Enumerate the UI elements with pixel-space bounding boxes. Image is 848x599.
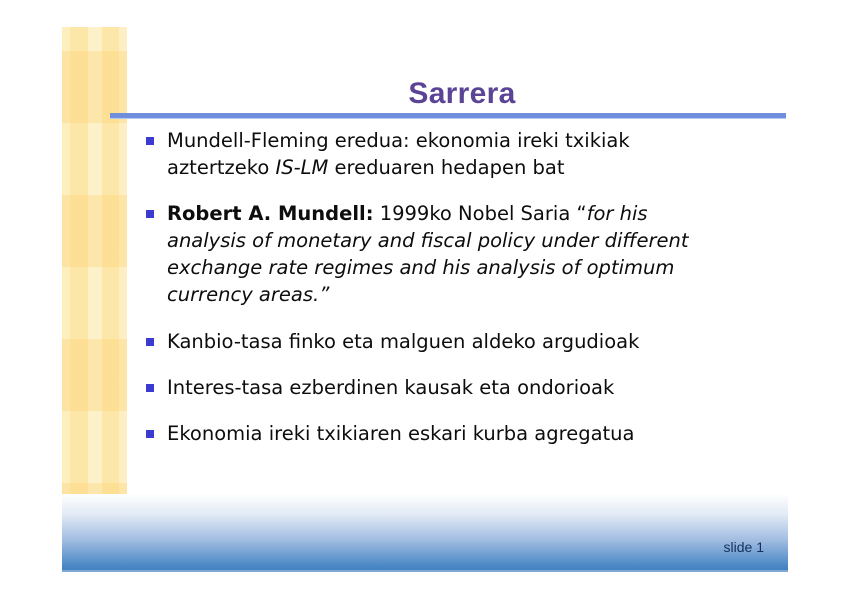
bullet-robert-mundell-text: Robert A. Mundell: 1999ko Nobel Saria “f… [167,200,726,308]
bullet-mundell-fleming-segment-1: IS-LM [275,156,328,179]
bullet-mundell-fleming-segment-2: ereduaren hedapen bat [328,156,564,179]
page-title: Sarrera [132,77,788,111]
decorative-stripe-panel [62,27,127,572]
list-item: Interes-tasa ezberdinen kausak eta ondor… [146,374,726,401]
bullet-square-icon [146,338,154,346]
bullet-robert-mundell-segment-1: 1999ko Nobel Saria “ [374,202,587,225]
title-divider-rule [110,113,786,119]
list-item: Robert A. Mundell: 1999ko Nobel Saria “f… [146,200,726,308]
footer-underline [62,570,788,572]
list-item: Kanbio-tasa finko eta malguen aldeko arg… [146,328,726,355]
bullet-square-icon [146,430,154,438]
bullet-interes-tasa-segment-0: Interes-tasa ezberdinen kausak eta ondor… [167,376,614,399]
list-item: Ekonomia ireki txikiaren eskari kurba ag… [146,420,726,447]
bullet-square-icon [146,210,154,218]
bullet-kanbio-tasa-text: Kanbio-tasa finko eta malguen aldeko arg… [167,328,726,355]
footer-gradient-band: slide 1 [62,494,788,572]
bullet-ekonomia-ireki-segment-0: Ekonomia ireki txikiaren eskari kurba ag… [167,422,635,445]
presentation-slide: Sarrera Mundell-Fleming eredua: ekonomia… [62,27,788,572]
bullet-square-icon [146,137,154,145]
bullet-list: Mundell-Fleming eredua: ekonomia ireki t… [146,127,726,466]
bullet-interes-tasa-text: Interes-tasa ezberdinen kausak eta ondor… [167,374,726,401]
bullet-ekonomia-ireki-text: Ekonomia ireki txikiaren eskari kurba ag… [167,420,726,447]
bullet-square-icon [146,384,154,392]
slide-number-label: slide 1 [724,539,764,555]
bullet-kanbio-tasa-segment-0: Kanbio-tasa finko eta malguen aldeko arg… [167,330,639,353]
bullet-robert-mundell-segment-0: Robert A. Mundell: [167,202,374,225]
list-item: Mundell-Fleming eredua: ekonomia ireki t… [146,127,726,181]
bullet-mundell-fleming-text: Mundell-Fleming eredua: ekonomia ireki t… [167,127,726,181]
